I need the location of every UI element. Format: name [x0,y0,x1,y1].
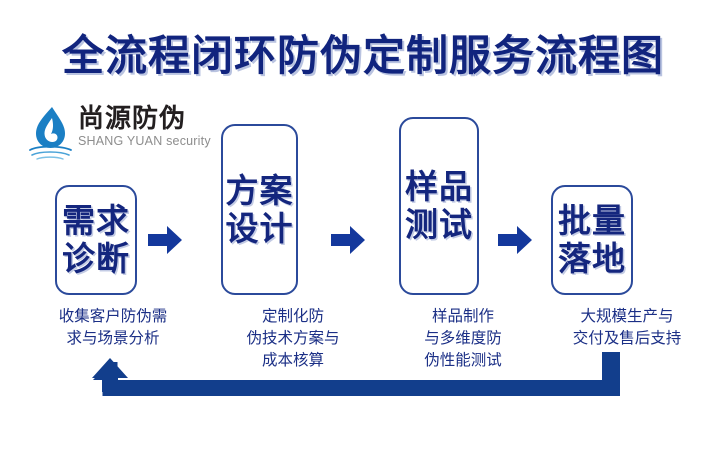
flow-step-label-4: 批量 落地 [558,202,626,278]
flow-step-label-1-line-1: 需求 [62,202,130,240]
flow-step-box-3[interactable]: 样品 测试 [399,117,479,295]
flow-step-caption-4: 大规模生产与 交付及售后支持 [537,306,717,350]
flow-step-caption-1: 收集客户防伪需 求与场景分析 [33,306,193,350]
flow-step-caption-4-line-2: 交付及售后支持 [537,328,717,350]
flow-step-label-2-line-2: 设计 [226,210,294,248]
flow-step-caption-4-line-1: 大规模生产与 [537,306,717,328]
flowchart-page: 全流程闭环防伪定制服务流程图 尚源防伪 SHANG YUAN security … [0,0,726,450]
flow-step-label-1: 需求 诊断 [62,202,130,278]
logo-name-cn: 尚源防伪 [78,103,218,133]
flow-step-caption-1-line-2: 求与场景分析 [33,328,193,350]
logo-text-block: 尚源防伪 SHANG YUAN security [78,103,218,149]
flow-step-label-4-line-1: 批量 [558,202,626,240]
brand-logo: 尚源防伪 SHANG YUAN security [28,103,218,165]
flow-step-label-3: 样品 测试 [405,168,473,244]
closed-loop-arrow-icon [80,352,640,404]
flow-step-label-1-line-2: 诊断 [62,240,130,278]
flow-step-label-3-line-2: 测试 [405,206,473,244]
arrow-right-icon [330,224,366,256]
flow-step-caption-1-line-1: 收集客户防伪需 [33,306,193,328]
logo-name-en: SHANG YUAN security [78,134,218,149]
flow-step-caption-3-line-2: 与多维度防 [383,328,543,350]
flow-step-label-2-line-1: 方案 [226,172,294,210]
flow-step-box-1[interactable]: 需求 诊断 [55,185,137,295]
flow-step-box-4[interactable]: 批量 落地 [551,185,633,295]
flow-step-label-4-line-2: 落地 [558,240,626,278]
arrow-right-icon [147,224,183,256]
arrow-right-icon [497,224,533,256]
flow-step-label-2: 方案 设计 [226,172,294,248]
flow-step-label-3-line-1: 样品 [405,168,473,206]
flow-step-caption-2-line-2: 伪技术方案与 [213,328,373,350]
flow-step-caption-2-line-1: 定制化防 [213,306,373,328]
flame-water-droplet-icon [28,105,74,161]
page-title: 全流程闭环防伪定制服务流程图 [0,30,726,82]
flow-step-caption-3-line-1: 样品制作 [383,306,543,328]
flow-step-box-2[interactable]: 方案 设计 [221,124,298,295]
